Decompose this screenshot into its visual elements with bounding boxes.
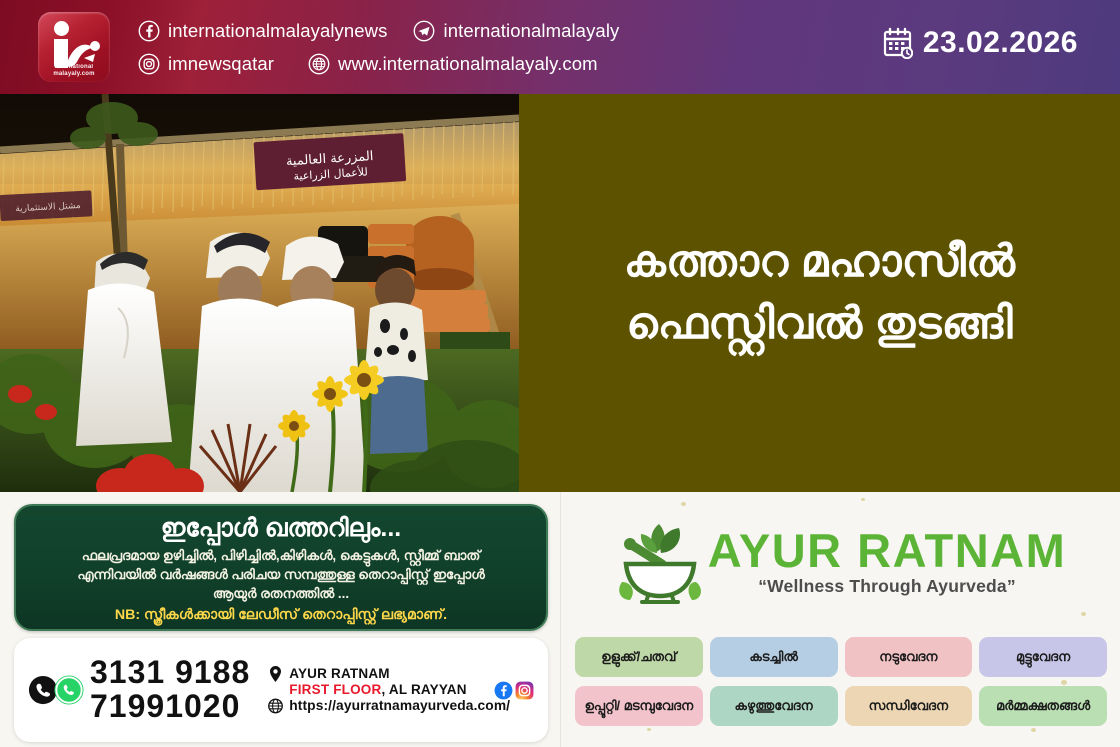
social-telegram-handle: internationalmalayaly xyxy=(443,20,619,42)
business-name: AYUR RATNAM xyxy=(289,666,389,682)
social-website-handle: www.internationalmalayaly.com xyxy=(338,53,598,75)
ad-left-panel: ഇപ്പോൾ ഖത്തറിലും... ഫലപ്രദമായ ഉഴിച്ചിൽ, … xyxy=(0,492,560,747)
phone-line-1: 3131 9188 xyxy=(90,656,250,690)
phone-numbers[interactable]: 3131 9188 71991020 xyxy=(90,656,250,723)
phone-icon-group xyxy=(28,675,84,705)
service-pill-label: കടച്ചിൽ xyxy=(749,650,797,664)
service-pill[interactable]: കഴുത്തുവേദന xyxy=(710,686,838,726)
news-photo: المزرعة العالمية للأعمال الزراعية مشتل ا… xyxy=(0,94,519,492)
ayur-text-lockup: AYUR RATNAM “Wellness Through Ayurveda” xyxy=(708,527,1067,598)
service-pill[interactable]: നടുവേദന xyxy=(845,637,973,677)
service-pill-label: ഉളുക്ക്/ചതവ് xyxy=(601,650,676,664)
address-floor: FIRST FLOOR xyxy=(289,682,381,698)
advertisement-strip: ഇപ്പോൾ ഖത്തറിലും... ഫലപ്രദമായ ഉഴിച്ചിൽ, … xyxy=(0,492,1120,747)
social-facebook-handle: internationalmalayalynews xyxy=(168,20,387,42)
service-pill-grid: ഉളുക്ക്/ചതവ് കടച്ചിൽ നടുവേദന മുട്ടുവേദന … xyxy=(575,637,1107,726)
address-block: AYUR RATNAM FIRST FLOOR , AL RAYYAN http… xyxy=(268,666,488,714)
instagram-icon[interactable] xyxy=(515,681,534,700)
service-pill[interactable]: മർമ്മക്ഷതങ്ങൾ xyxy=(979,686,1107,726)
ayur-brand-lockup: AYUR RATNAM “Wellness Through Ayurveda” xyxy=(561,506,1120,618)
social-instagram-handle: imnewsqatar xyxy=(168,53,274,75)
service-pill[interactable]: മുട്ടുവേദന xyxy=(979,637,1107,677)
ayur-brand-name: AYUR RATNAM xyxy=(708,527,1067,575)
date-display: 23.02.2026 xyxy=(883,26,1078,60)
promo-body-line-3: ആയുർ രതനത്തിൽ ... xyxy=(32,584,530,603)
facebook-icon[interactable] xyxy=(494,681,513,700)
social-instagram[interactable]: imnewsqatar xyxy=(138,53,274,75)
instagram-icon xyxy=(138,53,160,75)
social-row-1: internationalmalayalynews internationalm… xyxy=(138,14,645,47)
calendar-icon xyxy=(883,27,913,59)
website-url: https://ayurratnamayurveda.com/ xyxy=(289,698,510,714)
promo-body-line-2: എന്നിവയിൽ വർഷങ്ങൾ പരിചയ സമ്പത്തുള്ള തെറാ… xyxy=(32,565,530,584)
website-row[interactable]: https://ayurratnamayurveda.com/ xyxy=(268,698,488,714)
promo-body-line-1: ഫലപ്രദമായ ഉഴിച്ചിൽ, പിഴിച്ചിൽ,കിഴികൾ, കെ… xyxy=(32,546,530,565)
phone-line-2: 71991020 xyxy=(90,690,250,724)
promo-note: NB: സ്ത്രീകൾക്കായി ലേഡീസ് തെറാപ്പിസ്റ്റ്… xyxy=(32,607,530,623)
logo-dot xyxy=(54,21,69,36)
telegram-icon xyxy=(413,20,435,42)
social-website[interactable]: www.internationalmalayaly.com xyxy=(308,53,598,75)
facebook-icon xyxy=(138,20,160,42)
date-value: 23.02.2026 xyxy=(923,26,1078,60)
location-pin-icon xyxy=(268,666,283,682)
address-line-row: FIRST FLOOR , AL RAYYAN xyxy=(268,682,488,698)
contact-card: 3131 9188 71991020 AYUR RATNAM FIRST FLO… xyxy=(14,638,548,742)
service-pill-label: മർമ്മക്ഷതങ്ങൾ xyxy=(996,699,1090,713)
social-handles: internationalmalayalynews internationalm… xyxy=(138,14,645,80)
service-pill-label: കഴുത്തുവേദന xyxy=(735,699,813,713)
globe-icon xyxy=(268,698,283,714)
headline-line-1: കത്താറ മഹാസീൽ xyxy=(624,237,1015,286)
ayur-tagline: “Wellness Through Ayurveda” xyxy=(708,576,1067,597)
promo-body: ഫലപ്രദമായ ഉഴിച്ചിൽ, പിഴിച്ചിൽ,കിഴികൾ, കെ… xyxy=(32,546,530,603)
headline-line-2: ഫെസ്റ്റിവൽ തുടങ്ങി xyxy=(626,299,1012,348)
promo-title: ഇപ്പോൾ ഖത്തറിലും... xyxy=(32,513,530,544)
logo-caption: international malayaly.com xyxy=(38,64,110,77)
service-pill-label: നടുവേദന xyxy=(879,650,937,664)
contact-social-icons xyxy=(494,681,534,700)
address-city: , AL RAYYAN xyxy=(381,682,466,698)
news-card: international malayaly.com international… xyxy=(0,0,1120,747)
social-facebook[interactable]: internationalmalayalynews xyxy=(138,20,387,42)
promo-message-box: ഇപ്പോൾ ഖത്തറിലും... ഫലപ്രദമായ ഉഴിച്ചിൽ, … xyxy=(14,504,548,631)
service-pill[interactable]: ഉപ്പൂറ്റി/ മടമ്പുവേദന xyxy=(575,686,703,726)
service-pill-label: ഉപ്പൂറ്റി/ മടമ്പുവേദന xyxy=(585,699,694,713)
service-pill[interactable]: ഉളുക്ക്/ചതവ് xyxy=(575,637,703,677)
service-pill[interactable]: സന്ധിവേദന xyxy=(845,686,973,726)
whatsapp-icon[interactable] xyxy=(54,675,84,705)
business-name-row: AYUR RATNAM xyxy=(268,666,488,682)
service-pill-label: മുട്ടുവേദന xyxy=(1016,650,1070,664)
service-pill-label: സന്ധിവേദന xyxy=(869,699,948,713)
service-pill[interactable]: കടച്ചിൽ xyxy=(710,637,838,677)
ad-right-panel: AYUR RATNAM “Wellness Through Ayurveda” … xyxy=(560,492,1120,747)
headline-panel: കത്താറ മഹാസീൽ ഫെസ്റ്റിവൽ തുടങ്ങി xyxy=(519,94,1120,492)
social-row-2: imnewsqatar www.internationalmalayaly.co… xyxy=(138,47,645,80)
header-bar: international malayaly.com international… xyxy=(0,0,1120,94)
globe-icon xyxy=(308,53,330,75)
brand-logo-icon[interactable]: international malayaly.com xyxy=(38,12,110,82)
mortar-and-pestle-leaf-icon xyxy=(616,520,702,604)
social-telegram[interactable]: internationalmalayaly xyxy=(413,20,619,42)
page-title: കത്താറ മഹാസീൽ ഫെസ്റ്റിവൽ തുടങ്ങി xyxy=(596,231,1043,356)
